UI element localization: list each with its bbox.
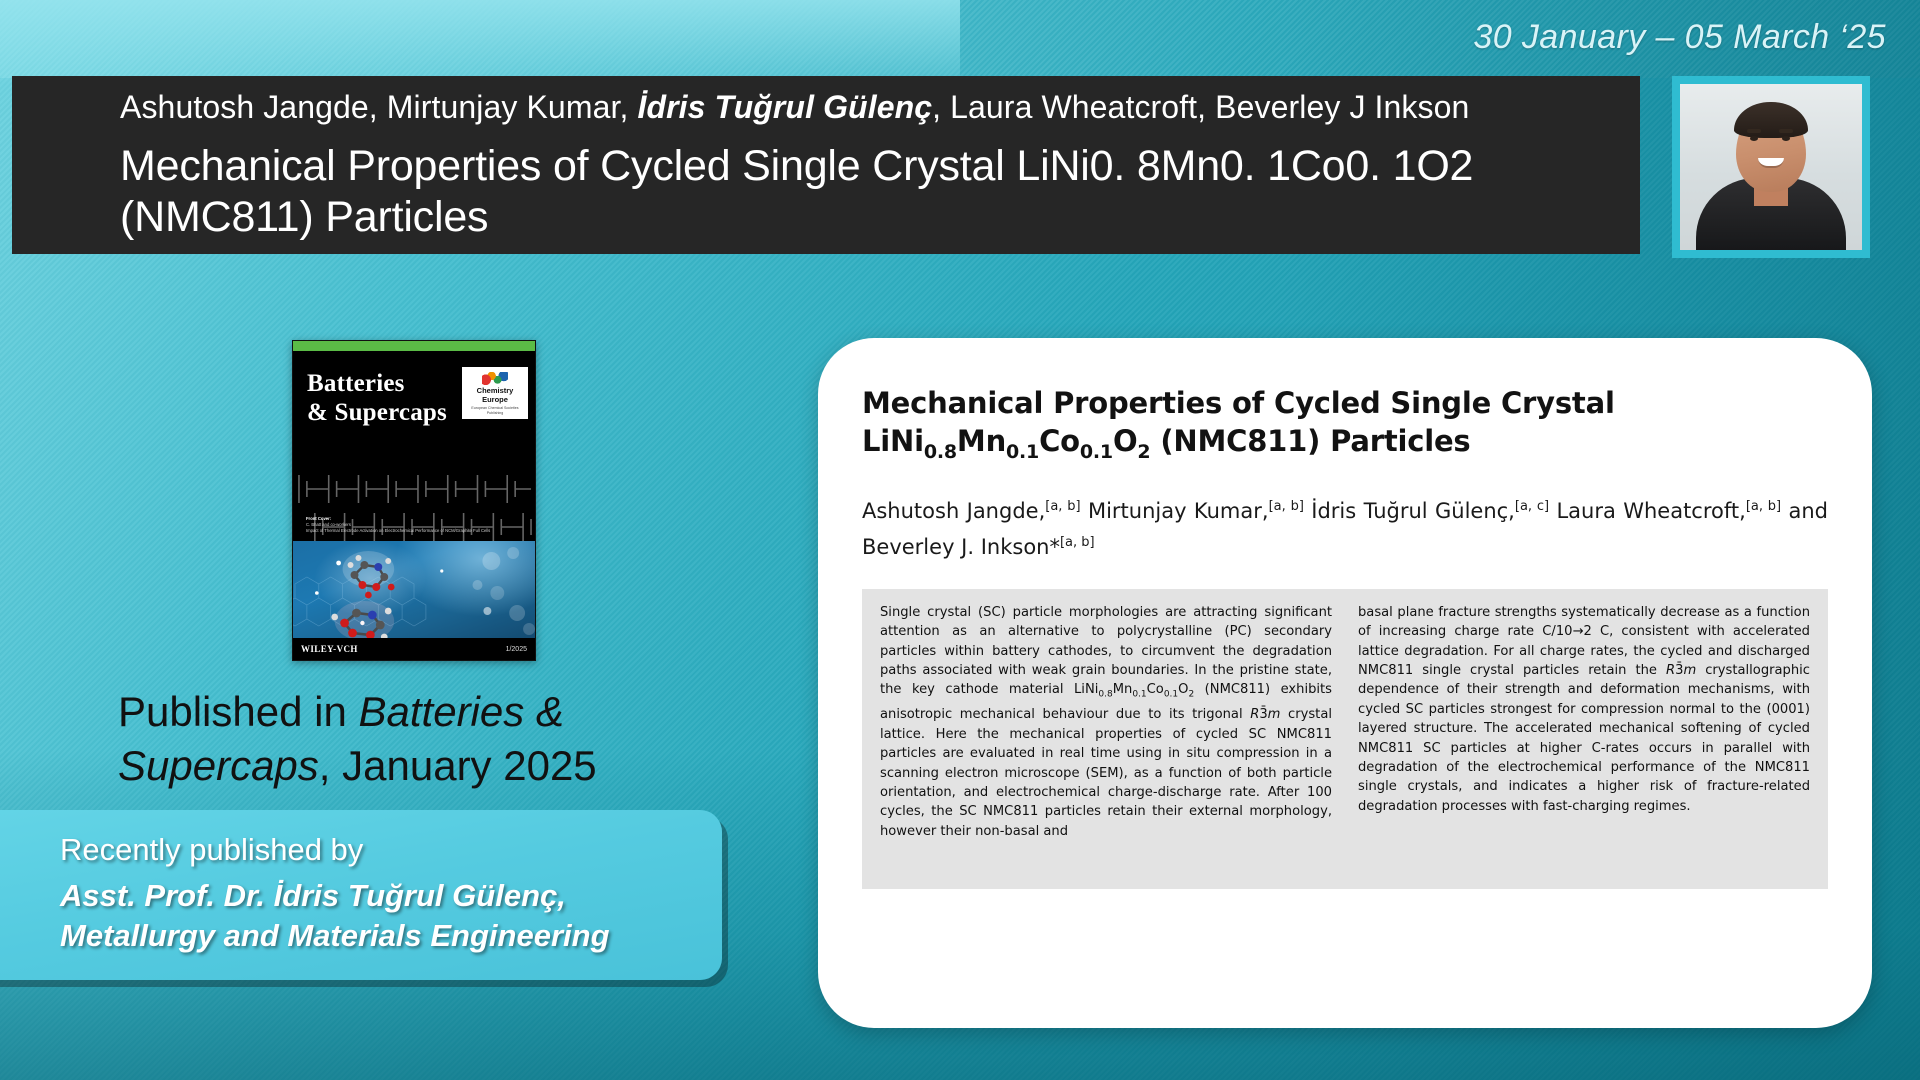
published-prefix: Published in: [118, 688, 359, 735]
battery-circuit-pattern-icon: [293, 469, 535, 551]
banner-author-list: Ashutosh Jangde, Mirtunjay Kumar, İdris …: [120, 87, 1500, 127]
paper-preview-card: Mechanical Properties of Cycled Single C…: [818, 338, 1872, 1028]
portrait-brow-left: [1747, 129, 1761, 133]
banner-highlighted-author: İdris Tuğrul Gülenç: [637, 89, 932, 125]
chemistry-europe-title2: Europe: [466, 395, 524, 404]
published-suffix: , January 2025: [319, 742, 597, 789]
cover-footer: WILEY-VCH 1/2025: [293, 638, 535, 660]
title-banner: Ashutosh Jangde, Mirtunjay Kumar, İdris …: [12, 76, 1640, 254]
paper-title-line2: LiNi0.8Mn0.1Co0.1O2 (NMC811) Particles: [862, 422, 1828, 471]
cover-journal-name-line1: Batteries: [307, 369, 447, 398]
cover-masthead: Batteries & Supercaps Chemistry Europe E…: [293, 351, 535, 541]
recently-published-callout: Recently published by Asst. Prof. Dr. İd…: [0, 810, 722, 980]
cover-journal-name: Batteries & Supercaps: [307, 369, 447, 427]
paper-title: Mechanical Properties of Cycled Single C…: [862, 384, 1828, 471]
abstract-column-left: Single crystal (SC) particle morphologie…: [880, 603, 1332, 875]
banner-paper-title: Mechanical Properties of Cycled Single C…: [120, 141, 1550, 243]
banner-authors-suffix: , Laura Wheatcroft, Beverley J Inkson: [932, 89, 1469, 125]
portrait-photo-frame: [1672, 76, 1870, 258]
banner-authors-prefix: Ashutosh Jangde, Mirtunjay Kumar,: [120, 89, 637, 125]
cover-green-stripe: [293, 341, 535, 351]
chemistry-europe-dots-icon: [482, 372, 508, 385]
published-in-caption: Published in Batteries & Supercaps, Janu…: [118, 685, 698, 793]
portrait-eye-left: [1750, 136, 1758, 141]
portrait-photo: [1680, 84, 1862, 250]
date-range-header: 30 January – 05 March ‘25: [1473, 18, 1886, 57]
callout-heading: Recently published by: [60, 830, 694, 870]
cover-caption-text: Front Cover: C. Bhatt and co-workers Imp…: [306, 516, 521, 534]
portrait-brow-right: [1779, 129, 1793, 133]
wiley-logo: WILEY-VCH: [301, 644, 358, 654]
slide-canvas: 30 January – 05 March ‘25 Ashutosh Jangd…: [0, 0, 1920, 1080]
paper-abstract-box: Single crystal (SC) particle morphologie…: [862, 589, 1828, 889]
chemistry-europe-subtitle: European Chemical Societies Publishing: [466, 406, 524, 415]
callout-author-name: Asst. Prof. Dr. İdris Tuğrul Gülenç, Met…: [60, 876, 694, 956]
chemistry-europe-title: Chemistry: [466, 386, 524, 395]
portrait-eye-right: [1782, 136, 1790, 141]
journal-cover-image: Batteries & Supercaps Chemistry Europe E…: [292, 340, 536, 661]
cover-journal-name-line2: & Supercaps: [307, 398, 447, 427]
paper-author-list: Ashutosh Jangde,[a, b] Mirtunjay Kumar,[…: [862, 491, 1828, 563]
cover-caption-line3: Impact of Thermal Electrode Activation o…: [306, 528, 521, 534]
abstract-column-right: basal plane fracture strengths systemati…: [1358, 603, 1810, 875]
cover-issue-number: 1/2025: [506, 646, 527, 653]
chemistry-europe-logo: Chemistry Europe European Chemical Socie…: [462, 367, 528, 419]
portrait-hair: [1734, 102, 1808, 138]
cover-artwork: [293, 541, 535, 640]
cover-molecule-artwork-icon: [293, 541, 535, 640]
paper-title-line1: Mechanical Properties of Cycled Single C…: [862, 384, 1828, 422]
